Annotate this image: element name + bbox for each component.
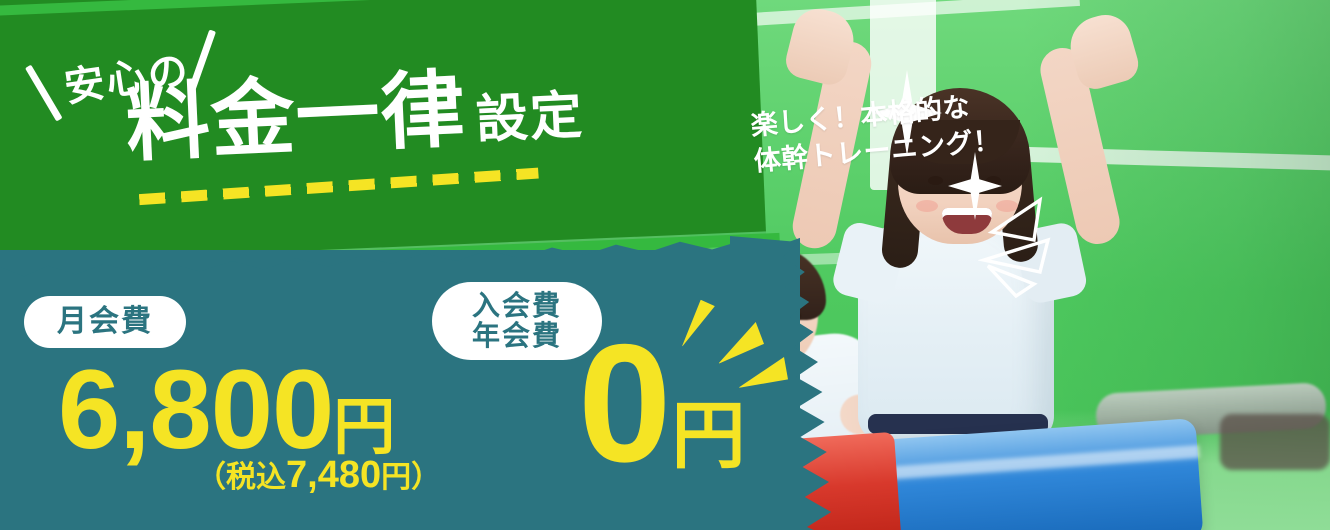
- headline-underline: [139, 168, 539, 205]
- monthly-fee-badge: 月会費: [24, 296, 186, 348]
- speed-triangle-icon: [978, 188, 1098, 298]
- girl-cheek-left: [916, 200, 938, 212]
- joining-fee-amount: 0円: [578, 330, 745, 483]
- headline-small: 設定: [475, 87, 586, 150]
- monthly-fee-tax-note: （税込7,480円）: [196, 452, 441, 497]
- tax-note-open: （税込: [196, 461, 286, 494]
- girl-eye-left: [928, 176, 943, 185]
- headline-main: 料金一律: [124, 62, 468, 171]
- gym-equipment-dark: [1220, 414, 1330, 470]
- joining-fee-number: 0: [578, 309, 671, 497]
- joining-fee-badge: 入会費 年会費: [432, 282, 602, 360]
- joining-fee-badge-line-2: 年会費: [472, 321, 562, 351]
- joining-fee-badge-line-1: 入会費: [472, 291, 562, 321]
- headline-group: 安心の 料金一律設定: [0, 0, 710, 240]
- slash-left-icon: [25, 65, 63, 122]
- joining-fee-unit: 円: [671, 394, 745, 477]
- pricing-banner: 安心の 料金一律設定 楽しく！本格的な 体幹トレーニング！ 月会費 6,800円…: [0, 0, 1330, 530]
- tax-amount: 7,480: [286, 454, 381, 496]
- monthly-fee-amount: 6,800円: [58, 358, 478, 466]
- page-title: 料金一律設定: [124, 62, 585, 167]
- tax-unit: 円）: [381, 461, 441, 494]
